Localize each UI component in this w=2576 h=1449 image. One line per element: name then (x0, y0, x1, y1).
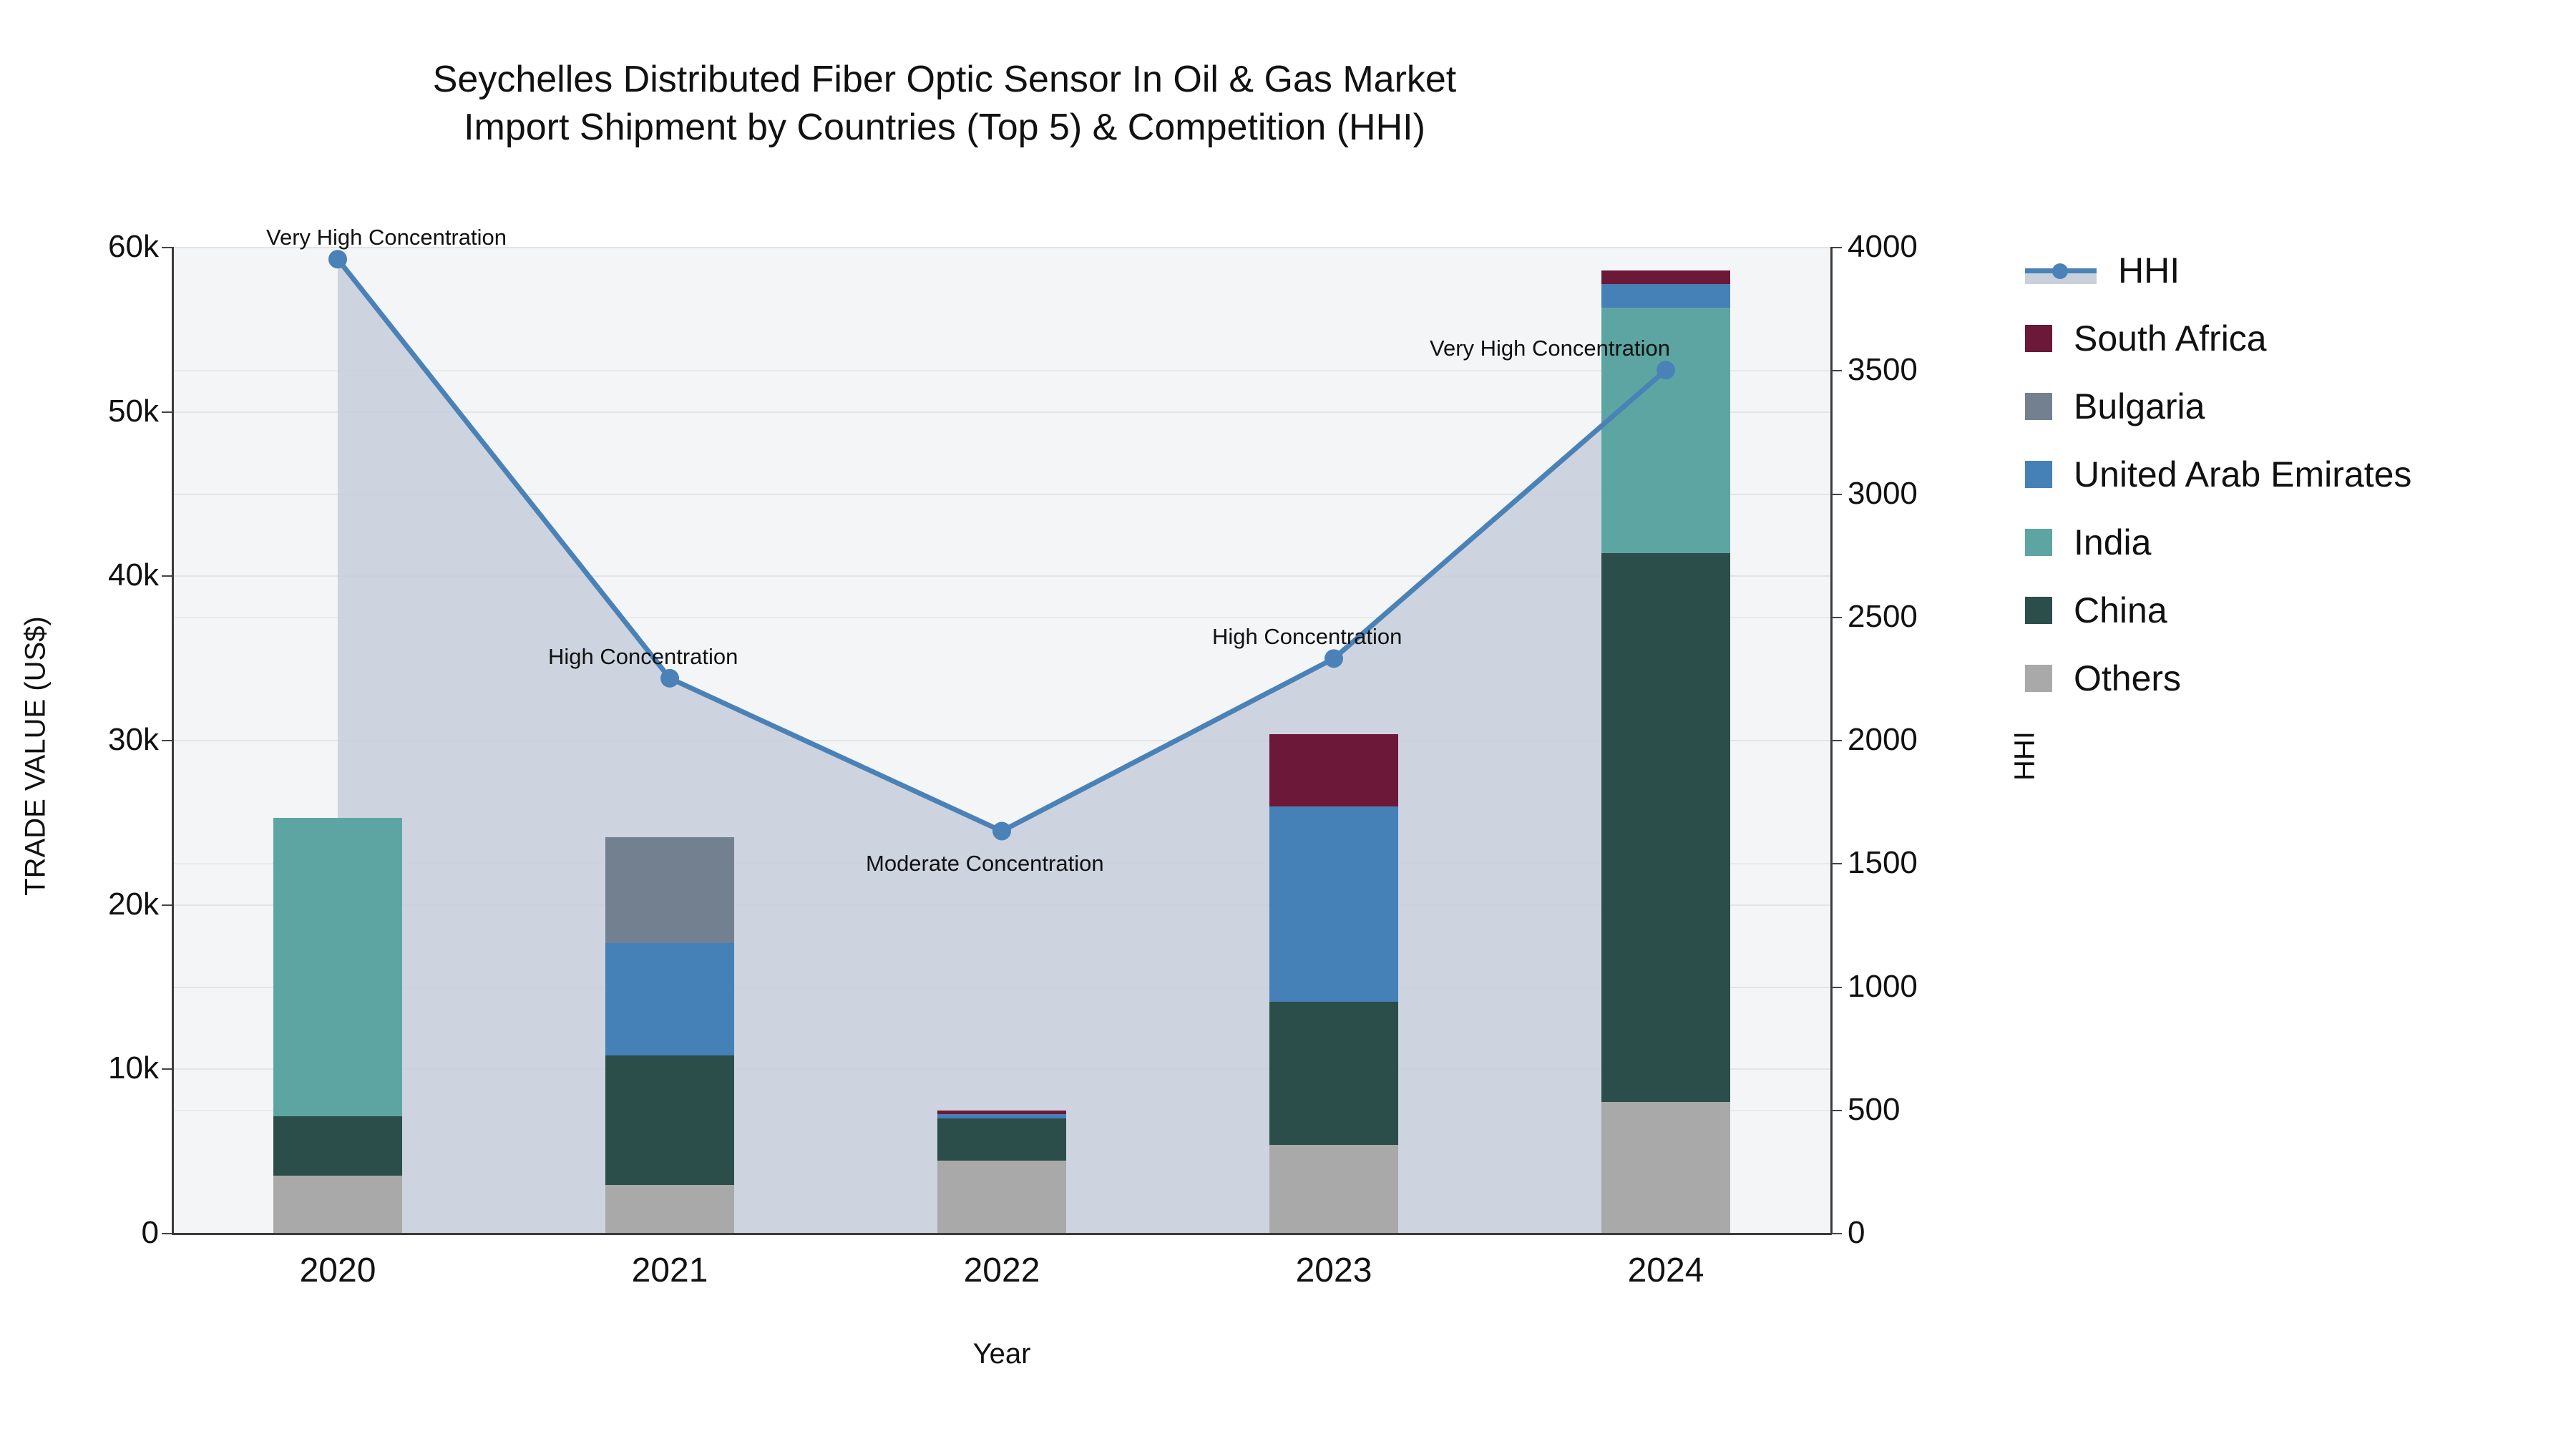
y-axis-right-tick-mark (1832, 617, 1842, 618)
y-axis-left-tick-label: 20k (108, 887, 159, 922)
concentration-annotation: High Concentration (1212, 624, 1402, 650)
y-axis-right-tick-mark (1832, 370, 1842, 371)
y-axis-left-tick-label: 30k (108, 722, 159, 758)
hhi-data-point[interactable] (1657, 361, 1675, 379)
legend-swatch-icon (2025, 529, 2052, 556)
y-axis-left-tick-label: 40k (108, 557, 159, 593)
legend-item-label: China (2074, 590, 2167, 631)
y-axis-left-line (172, 247, 174, 1233)
y-axis-left-tick-mark (162, 247, 172, 248)
y-axis-left-tick-mark (162, 904, 172, 906)
y-axis-right-tick-label: 500 (1848, 1092, 1900, 1128)
legend-swatch-icon (2025, 665, 2052, 692)
x-axis-tick-label: 2020 (300, 1251, 376, 1290)
x-axis-label: Year (172, 1338, 1832, 1370)
y-axis-left-tick-mark (162, 740, 172, 741)
legend-item-label: United Arab Emirates (2074, 454, 2411, 495)
legend-item[interactable]: India (2025, 508, 2569, 576)
legend-item-label: South Africa (2074, 318, 2267, 359)
y-axis-right-tick-label: 0 (1848, 1215, 1865, 1251)
y-axis-right-tick-mark (1832, 987, 1842, 988)
y-axis-right-tick-mark (1832, 247, 1842, 248)
y-axis-right-tick-mark (1832, 494, 1842, 495)
legend-swatch-icon (2025, 393, 2052, 420)
y-axis-right-tick-mark (1832, 863, 1842, 864)
y-axis-right-tick-mark (1832, 1110, 1842, 1111)
hhi-data-point[interactable] (660, 669, 679, 688)
chart-title-line-2: Import Shipment by Countries (Top 5) & C… (0, 104, 1889, 152)
legend-line-key-icon (2025, 257, 2097, 284)
y-axis-left-tick-mark (162, 411, 172, 413)
y-axis-right-tick-label: 4000 (1848, 229, 1918, 265)
legend-swatch-icon (2025, 597, 2052, 624)
legend-swatch-icon (2025, 325, 2052, 352)
hhi-data-point[interactable] (992, 821, 1011, 840)
legend-item[interactable]: United Arab Emirates (2025, 440, 2569, 508)
legend-item-label: HHI (2118, 250, 2180, 291)
y-axis-right-tick-label: 2000 (1848, 722, 1918, 758)
x-axis-tick-label: 2024 (1628, 1251, 1704, 1290)
y-axis-left-label: TRADE VALUE (US$) (20, 506, 52, 1007)
x-axis-tick-label: 2021 (632, 1251, 708, 1290)
hhi-line (172, 247, 1832, 1233)
y-axis-left-tick-label: 50k (108, 394, 159, 429)
y-axis-right-tick-label: 2500 (1848, 599, 1918, 635)
y-axis-left-tick-label: 60k (108, 229, 159, 265)
x-axis-tick-label: 2023 (1296, 1251, 1372, 1290)
y-axis-right-tick-mark (1832, 1233, 1842, 1234)
y-axis-left-tick-mark (162, 1233, 172, 1234)
y-axis-right-tick-mark (1832, 740, 1842, 741)
chart-title: Seychelles Distributed Fiber Optic Senso… (0, 56, 1889, 151)
y-axis-left-tick-label: 10k (108, 1050, 159, 1086)
hhi-data-point[interactable] (1324, 649, 1343, 668)
legend: HHISouth AfricaBulgariaUnited Arab Emira… (2025, 236, 2569, 712)
legend-item[interactable]: Bulgaria (2025, 372, 2569, 440)
legend-swatch-icon (2025, 461, 2052, 488)
hhi-data-point[interactable] (328, 250, 347, 268)
y-axis-right-tick-label: 1000 (1848, 969, 1918, 1005)
concentration-annotation: Very High Concentration (1430, 336, 1670, 361)
legend-item-label: Bulgaria (2074, 386, 2205, 427)
y-axis-right-ticks: 05001000150020002500300035004000 (1832, 247, 2018, 1233)
x-axis-tick-label: 2022 (964, 1251, 1040, 1290)
x-axis-line (172, 1233, 1832, 1235)
legend-item-label: India (2074, 522, 2151, 563)
legend-item[interactable]: Others (2025, 644, 2569, 712)
concentration-annotation: High Concentration (548, 644, 738, 670)
legend-item-label: Others (2074, 658, 2181, 699)
y-axis-left-tick-label: 0 (142, 1215, 159, 1251)
concentration-annotation: Moderate Concentration (866, 851, 1104, 877)
y-axis-left-tick-mark (162, 575, 172, 577)
y-axis-right-tick-label: 1500 (1848, 845, 1918, 881)
concentration-annotation: Very High Concentration (266, 225, 507, 250)
legend-item[interactable]: China (2025, 576, 2569, 644)
y-axis-right-tick-label: 3000 (1848, 476, 1918, 512)
plot-area: Very High ConcentrationHigh Concentratio… (172, 247, 1832, 1233)
legend-item[interactable]: HHI (2025, 236, 2569, 304)
chart-canvas: Seychelles Distributed Fiber Optic Senso… (0, 0, 2576, 1449)
chart-title-line-1: Seychelles Distributed Fiber Optic Senso… (0, 56, 1889, 104)
legend-item[interactable]: South Africa (2025, 304, 2569, 372)
y-axis-right-tick-label: 3500 (1848, 352, 1918, 388)
y-axis-left-tick-mark (162, 1068, 172, 1070)
